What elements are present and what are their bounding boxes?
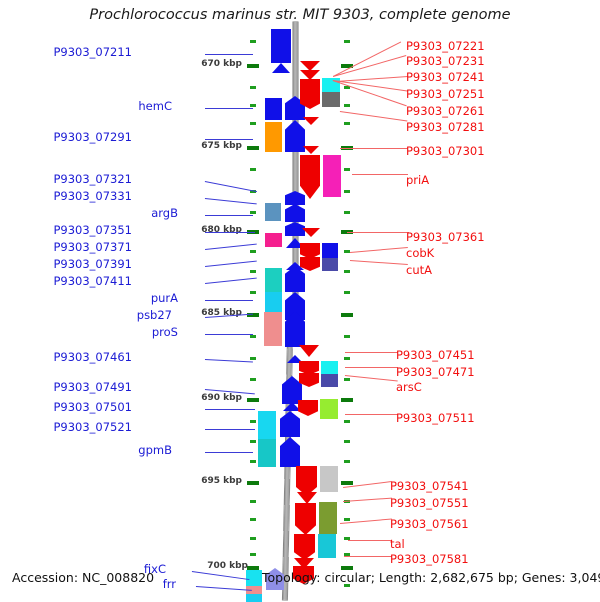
leader-line xyxy=(205,54,253,55)
gene-label[interactable]: P9303_07321 xyxy=(52,173,132,185)
leader-line xyxy=(205,215,253,216)
scale-tick xyxy=(250,460,256,463)
scale-tick xyxy=(344,122,350,125)
cds-arrow-dn[interactable] xyxy=(300,155,320,199)
page-title: Prochlorococcus marinus str. MIT 9303, c… xyxy=(0,7,600,23)
cds-arrow-dn[interactable] xyxy=(300,257,320,271)
cds-box[interactable] xyxy=(265,233,282,247)
scale-label: 670 kbp xyxy=(190,59,242,69)
cds-box[interactable] xyxy=(265,268,282,292)
cds-arrow-up[interactable] xyxy=(280,411,300,437)
scale-tick xyxy=(344,440,350,443)
scale-tick xyxy=(344,291,350,294)
cds-arrow-up[interactable] xyxy=(285,222,305,236)
gene-label[interactable]: P9303_07491 xyxy=(52,381,132,393)
scale-tick xyxy=(250,270,256,273)
leader-line xyxy=(205,359,253,363)
leader-line xyxy=(196,586,252,591)
scale-tick xyxy=(341,398,353,402)
scale-tick xyxy=(250,40,256,43)
cds-box[interactable] xyxy=(320,399,338,419)
scale-tick xyxy=(344,378,350,381)
scale-label: 690 kbp xyxy=(190,393,242,403)
cds-tri-up[interactable] xyxy=(272,63,290,73)
leader-line xyxy=(350,260,408,265)
leader-line xyxy=(333,80,407,106)
cds-box[interactable] xyxy=(321,361,338,374)
gene-label[interactable]: purA xyxy=(98,292,178,304)
cds-arrow-dn[interactable] xyxy=(299,373,319,387)
cds-arrow-dn[interactable] xyxy=(296,466,317,496)
gene-label[interactable]: P9303_07461 xyxy=(52,351,132,363)
cds-tri-dn[interactable] xyxy=(300,61,320,71)
scale-tick xyxy=(250,291,256,294)
scale-tick xyxy=(341,481,353,485)
gene-label[interactable]: cobK xyxy=(406,247,434,259)
gene-label[interactable]: P9303_07231 xyxy=(406,55,485,67)
cds-tri-dn[interactable] xyxy=(299,345,319,357)
cds-arrow-dn[interactable] xyxy=(300,243,320,259)
gene-label[interactable]: P9303_07541 xyxy=(390,480,469,492)
scale-tick xyxy=(250,211,256,214)
leader-line xyxy=(205,232,255,233)
scale-tick xyxy=(250,537,256,540)
scale-tick xyxy=(250,500,256,503)
scale-tick xyxy=(344,40,350,43)
accession-text: Accession: NC_008820 xyxy=(12,570,154,585)
gene-label[interactable]: P9303_07471 xyxy=(396,366,475,378)
cds-arrow-up[interactable] xyxy=(271,29,291,63)
topology-text: Topology: circular; Length: 2,682,675 bp… xyxy=(262,570,600,585)
cds-tri-dn[interactable] xyxy=(300,70,320,80)
cds-tri-dn[interactable] xyxy=(303,146,319,154)
scale-label: 695 kbp xyxy=(190,476,242,486)
scale-tick xyxy=(250,378,256,381)
scale-tick xyxy=(250,553,256,556)
scale-tick xyxy=(247,481,259,485)
leader-line xyxy=(205,261,257,267)
leader-line xyxy=(340,148,408,149)
leader-line xyxy=(345,414,398,415)
cds-box[interactable] xyxy=(258,411,276,439)
gene-label[interactable]: P9303_07211 xyxy=(52,46,132,58)
cds-arrow-dn[interactable] xyxy=(294,534,315,560)
gene-label[interactable]: P9303_07391 xyxy=(52,258,132,270)
leader-line xyxy=(352,174,408,175)
gene-label[interactable]: P9303_07331 xyxy=(52,190,132,202)
leader-line xyxy=(343,498,392,502)
cds-box[interactable] xyxy=(322,92,340,107)
genome-viewer[interactable]: Prochlorococcus marinus str. MIT 9303, c… xyxy=(0,0,600,600)
gene-label[interactable]: tal xyxy=(390,538,405,550)
cds-arrow-dn[interactable] xyxy=(298,400,318,416)
leader-line xyxy=(205,409,255,410)
scale-tick xyxy=(344,460,350,463)
scale-label: 700 kbp xyxy=(196,561,248,571)
scale-tick xyxy=(250,104,256,107)
gene-label[interactable]: argB xyxy=(98,207,178,219)
scale-tick xyxy=(247,64,259,68)
leader-line xyxy=(348,540,392,541)
gene-label[interactable]: P9303_07501 xyxy=(52,401,132,413)
cds-box[interactable] xyxy=(322,258,338,271)
leader-line xyxy=(347,232,409,233)
cds-box[interactable] xyxy=(322,243,338,258)
gene-label[interactable]: P9303_07291 xyxy=(52,131,132,143)
cds-box[interactable] xyxy=(258,439,276,467)
scale-label: 680 kbp xyxy=(190,225,242,235)
cds-box[interactable] xyxy=(265,203,281,221)
cds-box[interactable] xyxy=(320,466,338,492)
leader-line xyxy=(205,139,253,140)
cds-box[interactable] xyxy=(321,374,338,387)
scale-tick xyxy=(344,335,350,338)
gene-label[interactable]: P9303_07361 xyxy=(406,231,485,243)
cds-arrow-dn[interactable] xyxy=(299,361,319,375)
gene-label[interactable]: P9303_07221 xyxy=(406,40,485,52)
cds-arrow-up[interactable] xyxy=(285,204,305,222)
scale-tick xyxy=(344,518,350,521)
gene-label[interactable]: priA xyxy=(406,174,429,186)
cds-box[interactable] xyxy=(319,502,337,534)
leader-line xyxy=(344,556,392,557)
scale-tick xyxy=(250,518,256,521)
gene-label[interactable]: P9303_07411 xyxy=(52,275,132,287)
leader-line xyxy=(205,429,255,430)
scale-tick xyxy=(250,440,256,443)
gene-label[interactable]: cutA xyxy=(406,264,432,276)
gene-label[interactable]: P9303_07561 xyxy=(390,518,469,530)
leader-line xyxy=(205,108,253,109)
scale-tick xyxy=(250,335,256,338)
cds-tri-dn[interactable] xyxy=(297,492,317,504)
scale-tick xyxy=(250,86,256,89)
scale-tick xyxy=(344,211,350,214)
scale-tick xyxy=(250,420,256,423)
leader-line xyxy=(205,278,257,284)
scale-tick xyxy=(344,420,350,423)
gene-label[interactable]: gpmB xyxy=(92,444,172,456)
scale-tick xyxy=(247,398,259,402)
leader-line xyxy=(192,571,250,580)
gene-label[interactable]: P9303_07551 xyxy=(390,497,469,509)
scale-tick xyxy=(344,190,350,193)
leader-line xyxy=(205,334,253,335)
leader-line xyxy=(205,198,257,204)
cds-arrow-up[interactable] xyxy=(285,120,305,152)
scale-tick xyxy=(344,104,350,107)
leader-line xyxy=(345,375,398,382)
gene-label[interactable]: P9303_07281 xyxy=(406,121,485,133)
cds-box[interactable] xyxy=(264,312,282,346)
gene-label[interactable]: arsC xyxy=(396,381,422,393)
scale-tick xyxy=(344,270,350,273)
cds-arrow-up[interactable] xyxy=(280,437,300,467)
scale-tick xyxy=(341,313,353,317)
cds-arrow-up[interactable] xyxy=(285,191,305,205)
scale-tick xyxy=(344,357,350,360)
gene-label[interactable]: P9303_07581 xyxy=(390,553,469,565)
leader-line xyxy=(205,300,253,301)
gene-label[interactable]: P9303_07241 xyxy=(406,71,485,83)
scale-tick xyxy=(250,357,256,360)
cds-tri-dn[interactable] xyxy=(303,117,319,125)
scale-tick xyxy=(250,168,256,171)
cds-arrow-dn[interactable] xyxy=(295,503,316,535)
cds-box[interactable] xyxy=(323,155,341,197)
gene-label[interactable]: P9303_07301 xyxy=(406,145,485,157)
gene-label[interactable]: hemC xyxy=(92,100,172,112)
leader-line xyxy=(205,452,253,453)
scale-tick xyxy=(247,146,259,150)
gene-label[interactable]: P9303_07351 xyxy=(52,224,132,236)
cds-box[interactable] xyxy=(318,534,336,558)
scale-tick xyxy=(250,250,256,253)
leader-line xyxy=(340,111,407,121)
gene-label[interactable]: P9303_07371 xyxy=(52,241,132,253)
gene-label[interactable]: proS xyxy=(98,326,178,338)
leader-line xyxy=(345,367,398,368)
cds-box[interactable] xyxy=(265,122,282,152)
scale-label: 675 kbp xyxy=(190,141,242,151)
gene-label[interactable]: P9303_07451 xyxy=(396,349,475,361)
gene-label[interactable]: P9303_07251 xyxy=(406,88,485,100)
leader-line xyxy=(350,247,408,253)
leader-line xyxy=(205,181,257,192)
cds-box[interactable] xyxy=(246,594,262,602)
gene-label[interactable]: P9303_07511 xyxy=(396,412,475,424)
leader-line xyxy=(345,352,398,353)
gene-label[interactable]: P9303_07521 xyxy=(52,421,132,433)
scale-tick xyxy=(250,122,256,125)
gene-label[interactable]: psb27 xyxy=(92,309,172,321)
scale-tick xyxy=(344,168,350,171)
gene-label[interactable]: P9303_07261 xyxy=(406,105,485,117)
cds-box[interactable] xyxy=(265,98,282,120)
